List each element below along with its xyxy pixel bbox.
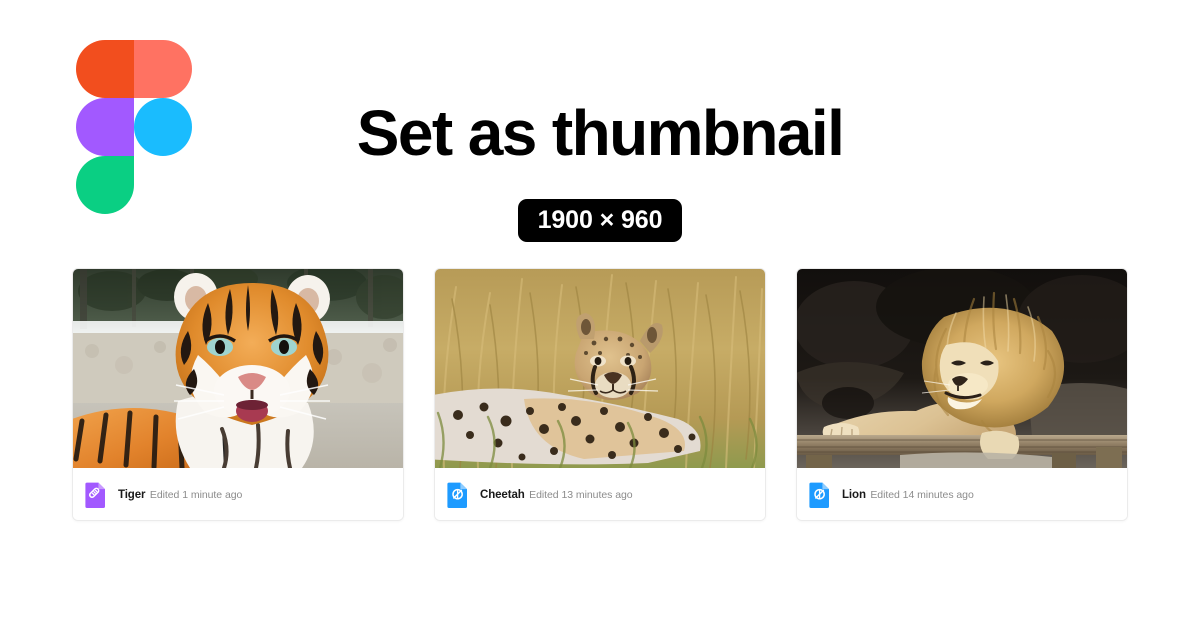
file-meta: Lion Edited 14 minutes ago xyxy=(842,485,974,504)
figma-logo xyxy=(76,40,192,214)
thumbnail-card-cheetah[interactable]: Cheetah Edited 13 minutes ago xyxy=(434,268,766,521)
lion-thumbnail[interactable] xyxy=(797,269,1127,468)
file-name: Lion xyxy=(842,489,866,501)
dimension-badge-container: 1900 × 960 xyxy=(240,199,960,242)
figma-design-file-icon xyxy=(447,481,469,508)
file-edited-timestamp: Edited 1 minute ago xyxy=(150,489,242,501)
file-edited-timestamp: Edited 13 minutes ago xyxy=(529,489,632,501)
file-name: Tiger xyxy=(118,489,145,501)
dimension-badge: 1900 × 960 xyxy=(518,199,683,242)
cheetah-thumbnail[interactable] xyxy=(435,269,765,468)
card-footer: Cheetah Edited 13 minutes ago xyxy=(435,468,765,520)
thumbnail-card-lion[interactable]: Lion Edited 14 minutes ago xyxy=(796,268,1128,521)
card-footer: Tiger Edited 1 minute ago xyxy=(73,468,403,520)
file-meta: Tiger Edited 1 minute ago xyxy=(118,485,242,504)
page-title: Set as thumbnail xyxy=(240,100,960,167)
figjam-file-icon xyxy=(85,481,107,508)
file-name: Cheetah xyxy=(480,489,525,501)
thumbnail-card-row: Tiger Edited 1 minute ago xyxy=(72,268,1128,521)
tiger-thumbnail[interactable] xyxy=(73,269,403,468)
file-edited-timestamp: Edited 14 minutes ago xyxy=(870,489,973,501)
file-meta: Cheetah Edited 13 minutes ago xyxy=(480,485,633,504)
card-footer: Lion Edited 14 minutes ago xyxy=(797,468,1127,520)
figma-design-file-icon xyxy=(809,481,831,508)
thumbnail-card-tiger[interactable]: Tiger Edited 1 minute ago xyxy=(72,268,404,521)
